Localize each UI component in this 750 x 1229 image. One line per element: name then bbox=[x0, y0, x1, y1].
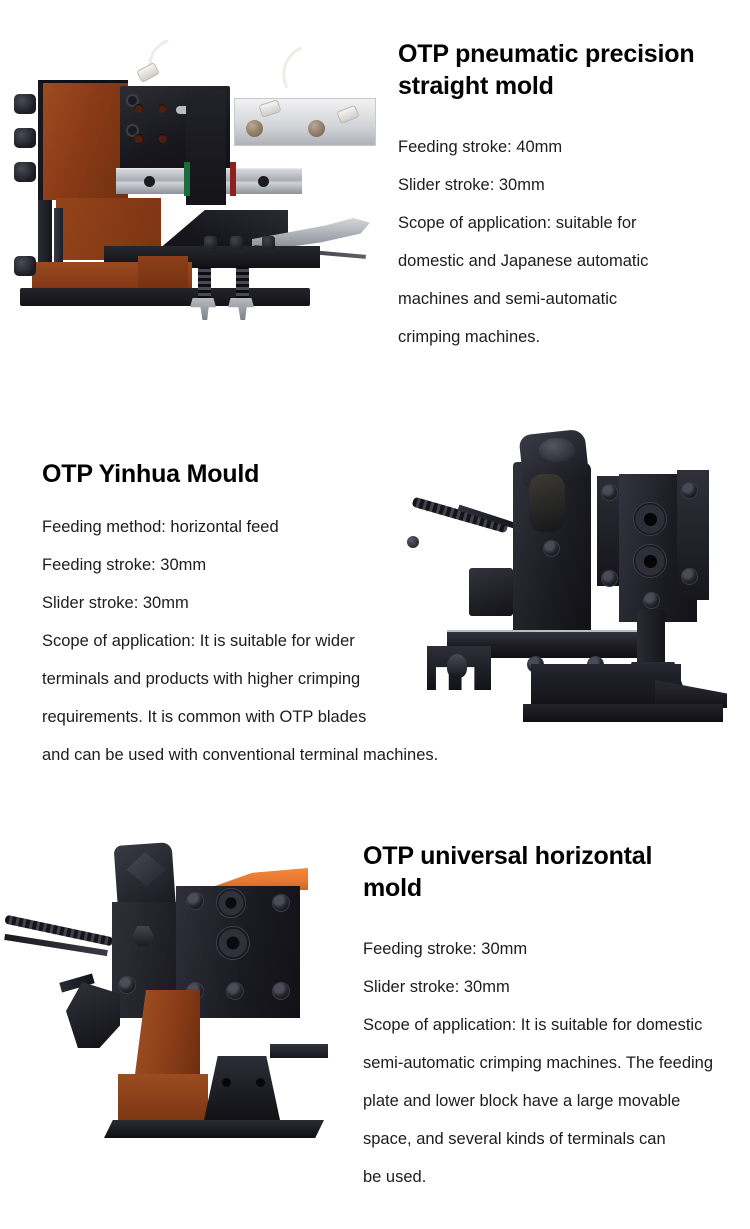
product-image-column-3 bbox=[0, 820, 355, 1229]
product-photo-pneumatic-straight-mold bbox=[8, 50, 378, 320]
mount-hole-icon bbox=[134, 134, 143, 143]
adjustment-dial-part bbox=[216, 888, 246, 918]
pin-part bbox=[204, 236, 217, 249]
clamp-part bbox=[190, 298, 216, 320]
product-block-universal-horizontal-mold: OTP universal horizontal mold Feeding st… bbox=[0, 820, 750, 1229]
adjust-knob-part bbox=[14, 94, 36, 114]
bolt-icon bbox=[118, 976, 136, 994]
product-photo-universal-horizontal-mold bbox=[8, 830, 348, 1160]
adjustment-dial-part bbox=[633, 502, 667, 536]
spec-line: machines and semi-automatic bbox=[398, 280, 750, 318]
bolt-icon bbox=[272, 894, 290, 912]
copper-base-part bbox=[118, 1074, 208, 1124]
product-specs-1: Feeding stroke: 40mm Slider stroke: 30mm… bbox=[398, 128, 750, 356]
spec-line: be used. bbox=[363, 1158, 750, 1196]
mount-hole-icon bbox=[158, 104, 167, 113]
product-block-yinhua-mould: OTP Yinhua Mould Feeding method: horizon… bbox=[0, 400, 750, 820]
adjustment-dial-part bbox=[216, 926, 250, 960]
product-block-pneumatic-straight-mold: OTP pneumatic precision straight mold Fe… bbox=[0, 0, 750, 400]
rail-screw-icon bbox=[144, 176, 155, 187]
mount-hole-icon bbox=[134, 104, 143, 113]
fork-knob-part bbox=[447, 654, 467, 678]
mount-hole-icon bbox=[256, 1078, 265, 1087]
arm-tip-icon bbox=[407, 536, 419, 548]
bolt-icon bbox=[543, 540, 560, 557]
copper-column-part bbox=[38, 80, 128, 200]
bolt-icon bbox=[272, 982, 290, 1000]
base-plate-part bbox=[20, 288, 310, 306]
mount-hole-icon bbox=[222, 1078, 231, 1087]
adjust-knob-part bbox=[14, 128, 36, 148]
rail-screw-icon bbox=[258, 176, 269, 187]
clamp-block-part bbox=[469, 568, 513, 616]
green-marker-part bbox=[184, 162, 190, 196]
bolt-icon bbox=[681, 482, 698, 499]
spec-line: Scope of application: suitable for bbox=[398, 204, 750, 242]
slider-part bbox=[186, 90, 226, 205]
product-image-column-1 bbox=[0, 0, 390, 400]
pin-part bbox=[262, 236, 275, 249]
copper-base-part bbox=[138, 256, 188, 292]
product-text-column-1: OTP pneumatic precision straight mold Fe… bbox=[390, 0, 750, 400]
base-plate-part bbox=[523, 704, 723, 722]
product-title-3: OTP universal horizontal mold bbox=[363, 840, 703, 904]
anvil-stud-part bbox=[308, 120, 325, 137]
spec-line: crimping machines. bbox=[398, 318, 750, 356]
adjustment-dial-part bbox=[633, 544, 667, 578]
spec-line: Slider stroke: 30mm bbox=[398, 166, 750, 204]
mount-hole-icon bbox=[158, 134, 167, 143]
product-text-column-3: OTP universal horizontal mold Feeding st… bbox=[355, 820, 750, 1229]
spring-part bbox=[198, 266, 211, 300]
product-specs-3: Feeding stroke: 30mm Slider stroke: 30mm… bbox=[363, 930, 750, 1196]
bolt-icon bbox=[643, 592, 660, 609]
spec-line: Feeding stroke: 40mm bbox=[398, 128, 750, 166]
bolt-icon bbox=[186, 892, 204, 910]
product-title-2: OTP Yinhua Mould bbox=[42, 458, 422, 490]
spec-line: domestic and Japanese automatic bbox=[398, 242, 750, 280]
pin-part bbox=[230, 236, 243, 249]
product-photo-yinhua-mould bbox=[405, 418, 745, 748]
spec-line: Feeding stroke: 30mm bbox=[363, 930, 750, 968]
spec-line: semi-automatic crimping machines. The fe… bbox=[363, 1044, 750, 1082]
product-title-1: OTP pneumatic precision straight mold bbox=[398, 38, 748, 102]
spec-line: space, and several kinds of terminals ca… bbox=[363, 1120, 750, 1158]
spec-line: plate and lower block have a large movab… bbox=[363, 1082, 750, 1120]
red-marker-part bbox=[230, 162, 236, 196]
bolt-icon bbox=[601, 484, 618, 501]
cap-disc-icon bbox=[539, 438, 575, 462]
tool-window-part bbox=[529, 474, 565, 532]
product-image-column-2 bbox=[395, 410, 750, 750]
product-text-column-2: OTP Yinhua Mould Feeding method: horizon… bbox=[0, 400, 750, 820]
base-plate-part bbox=[104, 1120, 324, 1138]
bolt-icon bbox=[226, 982, 244, 1000]
clamp-part bbox=[228, 298, 254, 320]
spec-line: Scope of application: It is suitable for… bbox=[363, 1006, 750, 1044]
adjust-knob-part bbox=[14, 162, 36, 182]
pawl-lever-part bbox=[66, 982, 120, 1048]
anvil-stud-part bbox=[246, 120, 263, 137]
bolt-icon bbox=[601, 570, 618, 587]
spring-part bbox=[236, 266, 249, 300]
side-rail-part bbox=[270, 1044, 328, 1058]
lower-block-part bbox=[204, 1056, 280, 1120]
bolt-icon bbox=[681, 568, 698, 585]
adjust-knob-part bbox=[14, 256, 36, 276]
spec-line: Slider stroke: 30mm bbox=[363, 968, 750, 1006]
